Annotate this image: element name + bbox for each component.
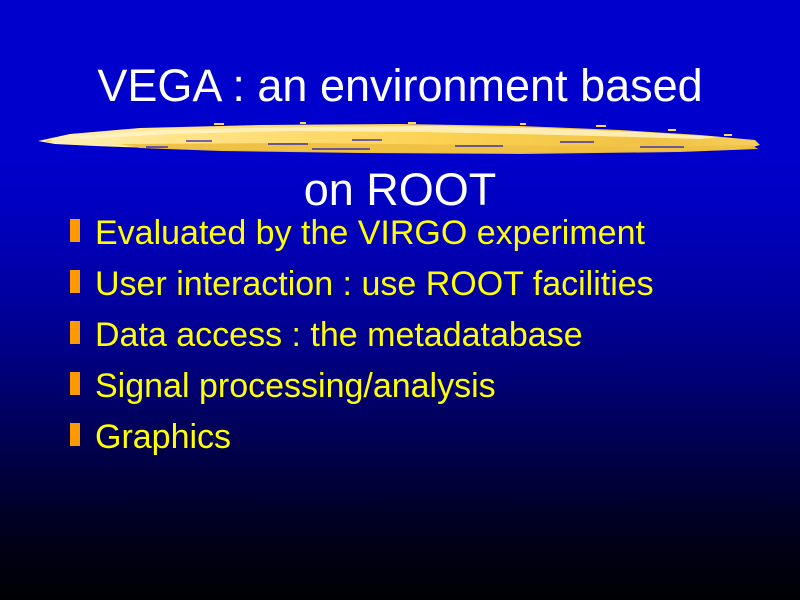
list-item[interactable]: Data access : the metadatabase <box>70 314 770 365</box>
list-item-label: User interaction : use ROOT facilities <box>95 263 770 305</box>
bullet-list: Evaluated by the VIRGO experiment User i… <box>70 212 770 467</box>
list-item[interactable]: User interaction : use ROOT facilities <box>70 263 770 314</box>
slide-title-line-1: VEGA : an environment based <box>0 60 800 112</box>
square-bullet-icon <box>70 321 80 344</box>
list-item[interactable]: Signal processing/analysis <box>70 365 770 416</box>
list-item[interactable]: Graphics <box>70 416 770 467</box>
list-item-label: Evaluated by the VIRGO experiment <box>95 212 770 254</box>
square-bullet-icon <box>70 372 80 395</box>
square-bullet-icon <box>70 219 80 242</box>
list-item[interactable]: Evaluated by the VIRGO experiment <box>70 212 770 263</box>
square-bullet-icon <box>70 423 80 446</box>
list-item-label: Signal processing/analysis <box>95 365 770 407</box>
presentation-slide: VEGA : an environment based on ROOT <box>0 0 800 600</box>
square-bullet-icon <box>70 270 80 293</box>
list-item-label: Graphics <box>95 416 770 458</box>
slide-title-line-2: on ROOT <box>0 164 800 216</box>
list-item-label: Data access : the metadatabase <box>95 314 770 356</box>
